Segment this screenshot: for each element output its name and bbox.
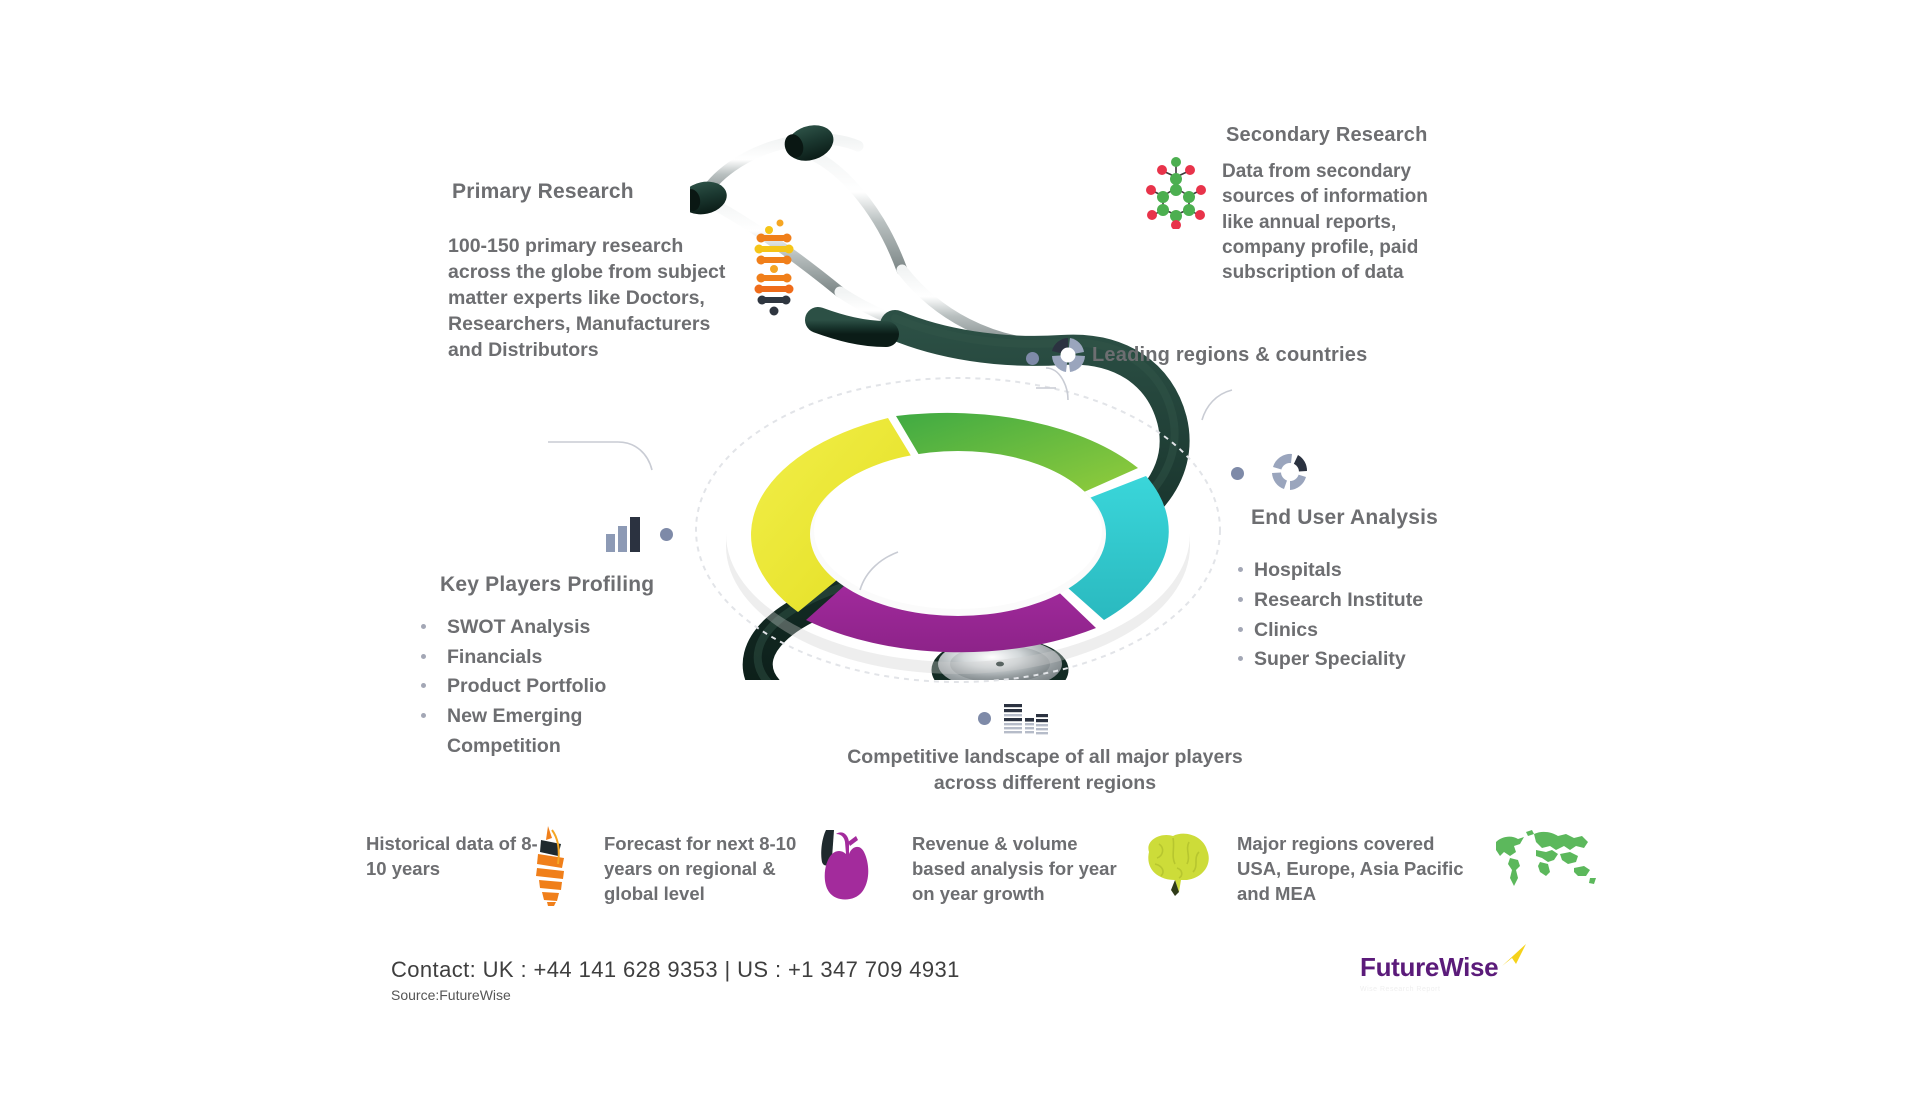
futurewise-logo[interactable]: FutureWise Wise Research Report <box>1360 952 1498 993</box>
end-user-heading: End User Analysis <box>1251 506 1438 530</box>
world-map-green-icon <box>1490 828 1600 892</box>
brain-lime-icon <box>1135 830 1213 896</box>
competitive-landscape-line2: across different regions <box>845 771 1245 797</box>
connector-dot-competitive <box>978 712 991 725</box>
key-players-list: SWOT Analysis Financials Product Portfol… <box>421 613 611 761</box>
dna-helix-icon <box>752 218 800 318</box>
primary-research-heading: Primary Research <box>452 180 634 204</box>
lungs-purple-icon <box>818 824 874 902</box>
connector-dot-enduser <box>1231 467 1244 480</box>
feature-text-regions: Major regions covered USA, Europe, Asia … <box>1237 832 1467 907</box>
equalizer-bars-icon <box>1003 703 1049 741</box>
end-user-list: Hospitals Research Institute Clinics Sup… <box>1238 556 1423 675</box>
source-line: Source:FutureWise <box>391 987 511 1003</box>
logo-tagline: Wise Research Report <box>1360 986 1498 993</box>
pie-segments-icon <box>1048 335 1088 375</box>
feature-text-forecast: Forecast for next 8-10 years on regional… <box>604 832 834 907</box>
list-item: SWOT Analysis <box>421 613 611 643</box>
contact-line: Contact: UK : +44 141 628 9353 | US : +1… <box>391 957 960 983</box>
competitive-landscape-text: Competitive landscape of all major playe… <box>845 745 1245 797</box>
list-item: Research Institute <box>1238 586 1423 616</box>
logo-arrow-icon <box>1500 944 1528 970</box>
list-item: Super Speciality <box>1238 645 1423 675</box>
molecule-icon <box>1145 155 1207 229</box>
competitive-landscape-line1: Competitive landscape of all major playe… <box>845 745 1245 771</box>
dna-strand-orange-icon <box>528 824 574 906</box>
donut-segments-icon <box>1268 450 1312 494</box>
secondary-research-heading: Secondary Research <box>1226 124 1427 147</box>
bar-chart-icon <box>604 516 646 552</box>
secondary-research-body: Data from secondary sources of informati… <box>1222 159 1452 285</box>
logo-text: FutureWise <box>1360 952 1498 982</box>
list-item: Hospitals <box>1238 556 1423 586</box>
leading-regions-label: Leading regions & countries <box>1092 344 1367 367</box>
connector-dot-keyplayers <box>660 528 673 541</box>
infographic-canvas: Primary Research 100-150 primary researc… <box>0 0 1920 1097</box>
key-players-heading: Key Players Profiling <box>440 573 654 597</box>
connector-dot-leading <box>1026 352 1039 365</box>
primary-research-body: 100-150 primary research across the glob… <box>448 234 748 364</box>
list-item: Financials <box>421 643 611 673</box>
list-item: New Emerging Competition <box>421 702 611 761</box>
list-item: Product Portfolio <box>421 672 611 702</box>
feature-text-revenue: Revenue & volume based analysis for year… <box>912 832 1117 907</box>
list-item: Clinics <box>1238 616 1423 646</box>
